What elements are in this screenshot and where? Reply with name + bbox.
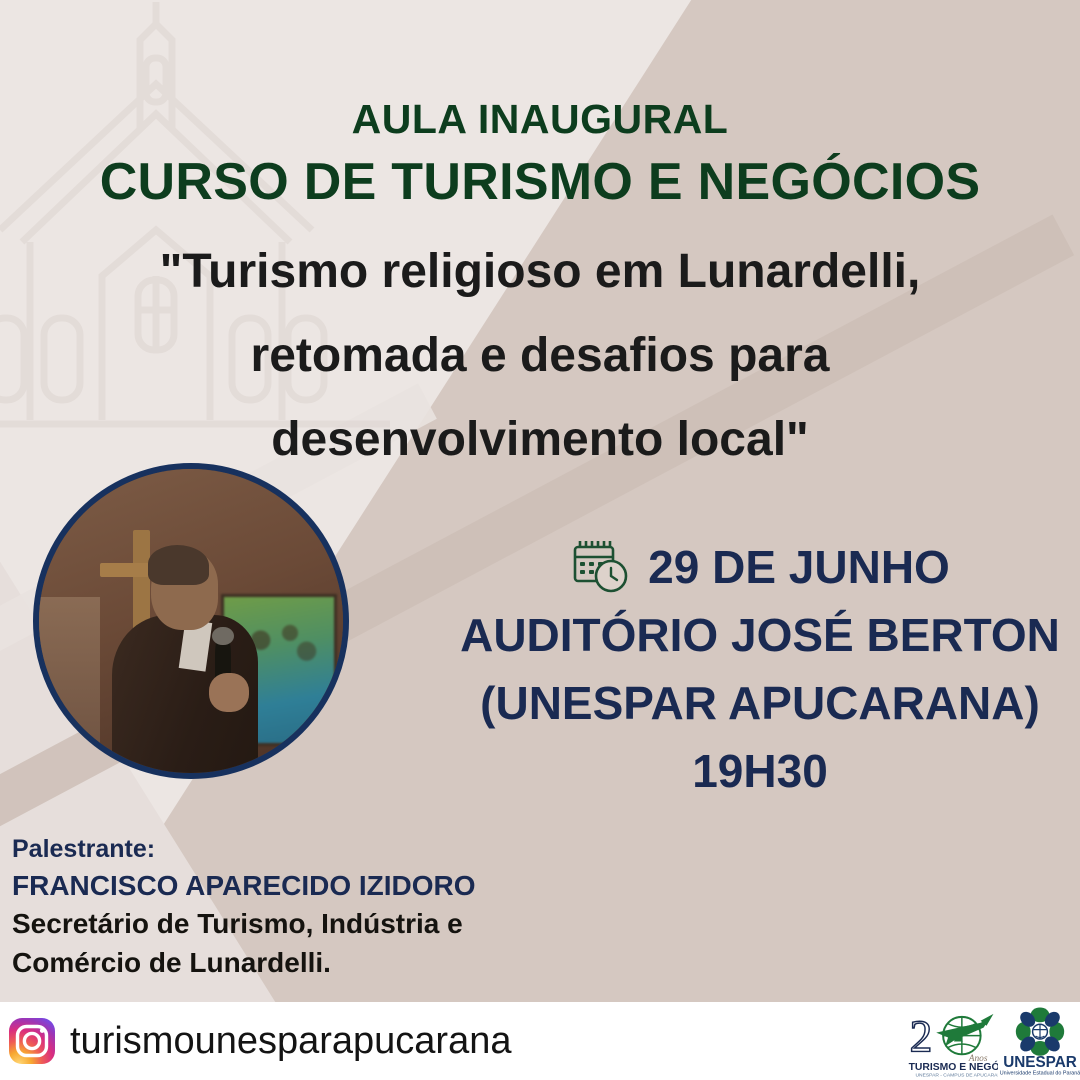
footer-logos: 2 Anos TURISMO E NEGÓCIOS UNESPAR - CAMP… [906, 1004, 1080, 1078]
speaker-role-line-1: Secretário de Turismo, Indústria e [12, 905, 632, 944]
svg-text:UNESPAR: UNESPAR [1003, 1054, 1077, 1071]
speaker-name: FRANCISCO APARECIDO IZIDORO [12, 867, 632, 906]
microphone-head [212, 627, 233, 645]
turismo-negocios-20-anos-logo: 2 Anos TURISMO E NEGÓCIOS UNESPAR - CAMP… [906, 1004, 998, 1078]
lecture-title-line-2: retomada e desafios para [0, 314, 1080, 398]
speaker-photo [33, 463, 349, 779]
svg-text:TURISMO E NEGÓCIOS: TURISMO E NEGÓCIOS [909, 1060, 998, 1073]
speaker-photo-image [39, 469, 343, 773]
speaker-label: Palestrante: [12, 832, 632, 867]
svg-text:UNESPAR - CAMPUS DE APUCARANA: UNESPAR - CAMPUS DE APUCARANA [915, 1073, 998, 1078]
svg-text:2: 2 [910, 1011, 933, 1061]
event-date-row: 29 DE JUNHO [440, 533, 1080, 601]
poster-canvas: AULA INAUGURAL CURSO DE TURISMO E NEGÓCI… [0, 0, 1080, 1080]
photo-podium [39, 597, 100, 773]
event-date: 29 DE JUNHO [648, 533, 950, 601]
event-time: 19H30 [440, 737, 1080, 805]
lecture-title: "Turismo religioso em Lunardelli, retoma… [0, 230, 1080, 482]
speaker-credit: Palestrante: FRANCISCO APARECIDO IZIDORO… [12, 832, 632, 982]
event-venue-line-1: AUDITÓRIO JOSÉ BERTON [440, 601, 1080, 669]
instagram-handle[interactable]: turismounesparapucarana [70, 1020, 512, 1063]
svg-text:Universidade Estadual do Paran: Universidade Estadual do Paraná [1000, 1071, 1080, 1077]
calendar-clock-icon [570, 538, 632, 596]
unespar-logo: UNESPAR Universidade Estadual do Paraná [1000, 1004, 1080, 1078]
photo-speaker-hand [209, 673, 249, 713]
photo-speaker-hair [148, 545, 209, 585]
event-details: 29 DE JUNHO AUDITÓRIO JOSÉ BERTON (UNESP… [440, 533, 1080, 805]
speaker-role-line-2: Comércio de Lunardelli. [12, 944, 632, 983]
page-title: CURSO DE TURISMO E NEGÓCIOS [0, 152, 1080, 212]
page-kicker: AULA INAUGURAL [0, 96, 1080, 143]
footer-bar: turismounesparapucarana 2 Anos TURISMO E… [0, 1002, 1080, 1080]
instagram-icon[interactable] [8, 1017, 56, 1065]
lecture-title-line-1: "Turismo religioso em Lunardelli, [0, 230, 1080, 314]
event-venue-line-2: (UNESPAR APUCARANA) [440, 669, 1080, 737]
